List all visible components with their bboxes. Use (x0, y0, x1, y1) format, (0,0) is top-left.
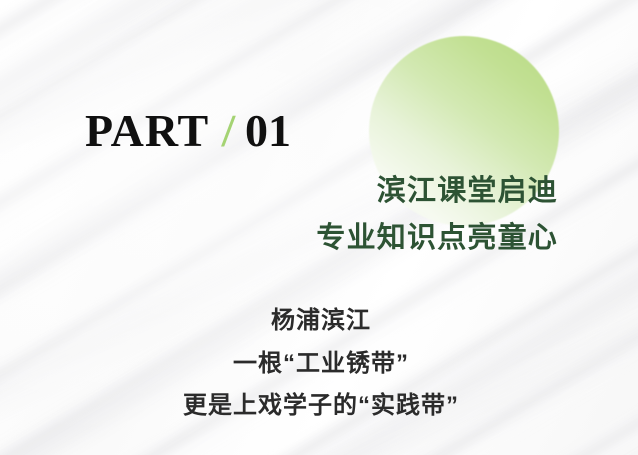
part-label-number: 01 (245, 108, 291, 154)
body-text-block: 杨浦滨江 一根“工业锈带” 更是上戏学子的“实践带” (0, 300, 638, 428)
part-label-separator-icon: / (221, 108, 236, 154)
body-line-3: 更是上戏学子的“实践带” (4, 385, 638, 428)
slide-canvas: PART / 01 滨江课堂启迪 专业知识点亮童心 杨浦滨江 一根“工业锈带” … (0, 0, 638, 455)
headline-block: 滨江课堂启迪 专业知识点亮童心 (316, 168, 558, 262)
body-line-1: 杨浦滨江 (4, 300, 638, 343)
part-label: PART / 01 (85, 108, 291, 154)
part-label-word: PART (85, 108, 209, 154)
headline-line-2: 专业知识点亮童心 (316, 215, 558, 262)
headline-line-1: 滨江课堂启迪 (316, 168, 558, 215)
body-line-2: 一根“工业锈带” (4, 343, 638, 386)
